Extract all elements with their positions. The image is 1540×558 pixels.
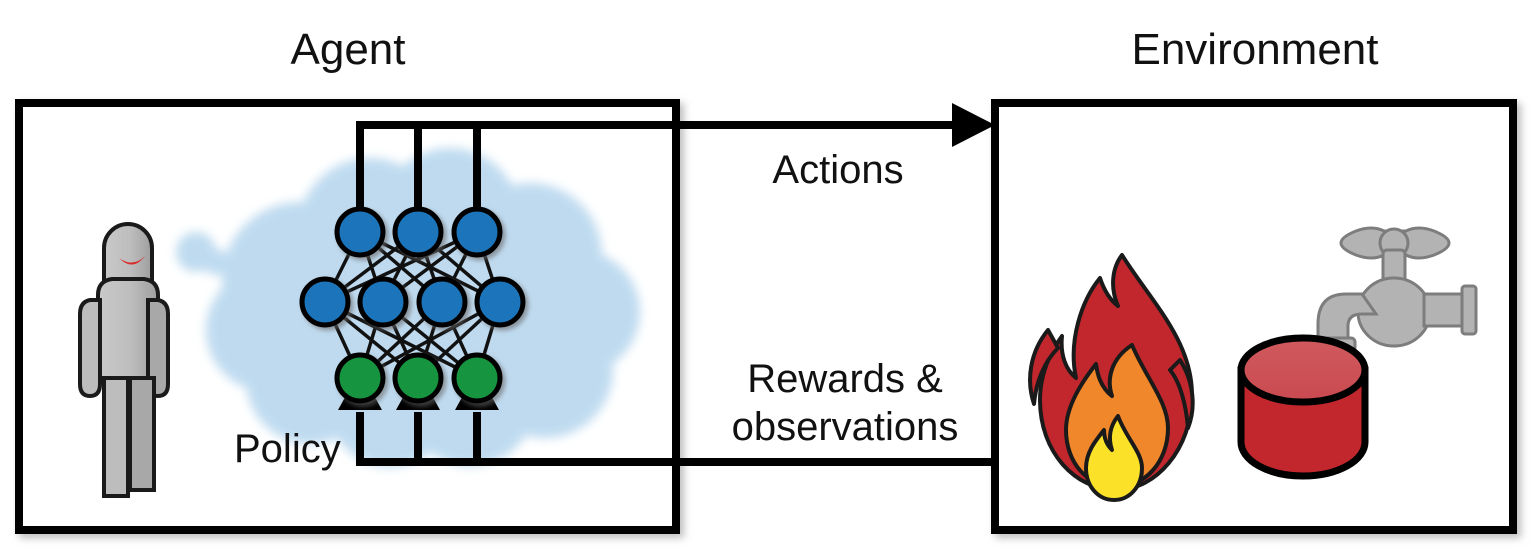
agent-title: Agent (291, 25, 406, 74)
network-node-out-2 (395, 355, 441, 401)
network-node-mid-4 (477, 279, 523, 325)
network-node-mid-1 (302, 279, 348, 325)
network-node-out-3 (454, 355, 500, 401)
rewards-flow-label-line2: observations (732, 405, 959, 449)
network-node-top-2 (395, 209, 441, 255)
policy-label: Policy (234, 427, 341, 471)
environment-title: Environment (1131, 25, 1378, 74)
rewards-flow-label-line1: Rewards & (747, 357, 943, 401)
bucket-icon (1241, 338, 1365, 476)
network-node-top-3 (454, 209, 500, 255)
actions-flow-label: Actions (772, 148, 903, 192)
network-node-mid-3 (419, 279, 465, 325)
diagram-canvas: Agent Environment (0, 0, 1540, 558)
network-node-top-1 (337, 209, 383, 255)
rl-loop-diagram: Agent Environment (0, 0, 1540, 558)
actions-arrowhead (952, 103, 995, 147)
network-node-out-1 (337, 355, 383, 401)
network-node-mid-2 (360, 279, 406, 325)
